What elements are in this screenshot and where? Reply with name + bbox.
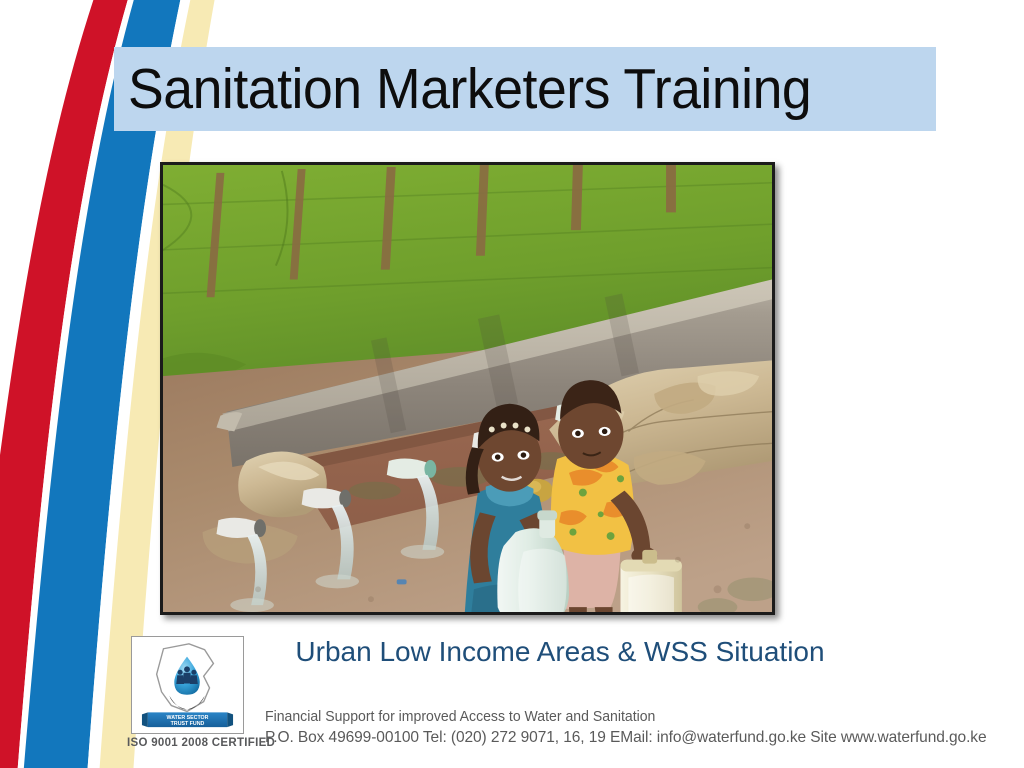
stripe-red — [0, 0, 130, 768]
slide-subtitle: Urban Low Income Areas & WSS Situation — [160, 630, 960, 674]
footer-contact-block: Financial Support for improved Access to… — [265, 708, 1024, 749]
slide-canvas: Sanitation Marketers Training — [0, 0, 1024, 768]
slide-photo — [160, 162, 775, 615]
logo-banner-line2: TRUST FUND — [171, 721, 205, 727]
iso-certification-label: ISO 9001 2008 CERTIFIED — [127, 737, 252, 749]
logo-banner: WATER SECTOR TRUST FUND — [142, 712, 233, 727]
footer-tagline: Financial Support for improved Access to… — [265, 708, 1002, 727]
logo-graphic: WATER SECTOR TRUST FUND — [132, 637, 243, 733]
photo-illustration — [163, 165, 772, 612]
page-title: Sanitation Marketers Training — [128, 48, 889, 130]
water-sector-trust-fund-logo: WATER SECTOR TRUST FUND — [131, 636, 244, 734]
footer-contact-details: P.O. Box 49699-00100 Tel: (020) 272 9071… — [265, 727, 1002, 749]
logo-banner-line1: WATER SECTOR — [167, 715, 209, 721]
